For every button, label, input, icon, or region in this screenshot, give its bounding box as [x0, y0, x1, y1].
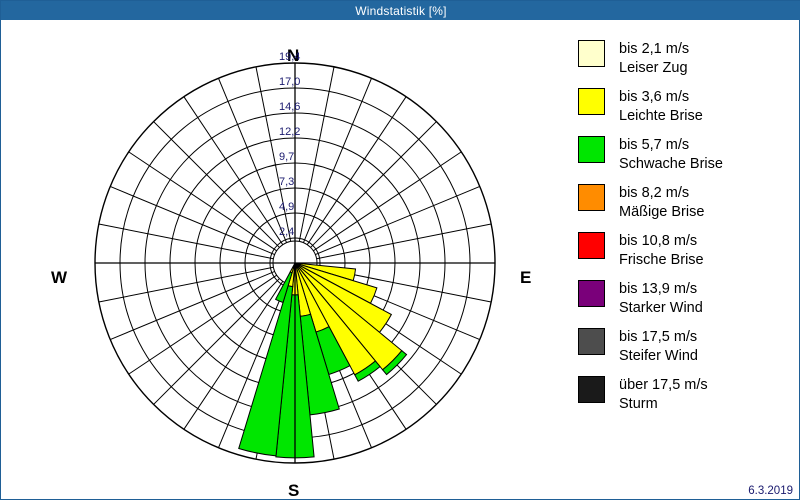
legend-speed: bis 8,2 m/s: [619, 184, 704, 203]
legend-color-swatch: [578, 136, 605, 163]
radial-tick-5: 12,2: [279, 126, 300, 138]
legend: bis 2,1 m/sLeiser Zugbis 3,6 m/sLeichte …: [566, 20, 799, 490]
legend-color-swatch: [578, 376, 605, 403]
legend-speed: bis 3,6 m/s: [619, 88, 703, 107]
compass-label-west: W: [51, 268, 67, 288]
legend-description: Sturm: [619, 395, 708, 414]
legend-description: Frische Brise: [619, 251, 704, 270]
radial-tick-1: 2,4: [279, 226, 294, 238]
radial-tick-6: 14,6: [279, 101, 300, 113]
legend-speed: bis 10,8 m/s: [619, 232, 704, 251]
legend-label: bis 5,7 m/sSchwache Brise: [619, 136, 723, 174]
legend-color-swatch: [578, 184, 605, 211]
compass-label-south: S: [288, 481, 299, 501]
legend-color-swatch: [578, 280, 605, 307]
legend-label: bis 10,8 m/sFrische Brise: [619, 232, 704, 270]
legend-speed: bis 13,9 m/s: [619, 280, 703, 299]
window-title-bar: Windstatistik [%]: [1, 1, 800, 20]
legend-item[interactable]: bis 3,6 m/sLeichte Brise: [578, 88, 703, 126]
radial-tick-8: 19,4: [279, 51, 300, 63]
legend-speed: bis 5,7 m/s: [619, 136, 723, 155]
legend-color-swatch: [578, 88, 605, 115]
legend-label: bis 13,9 m/sStarker Wind: [619, 280, 703, 318]
window-content: N S W E 2,44,97,39,712,214,617,019,4 bis…: [1, 20, 799, 499]
legend-label: bis 3,6 m/sLeichte Brise: [619, 88, 703, 126]
compass-label-east: E: [520, 268, 531, 288]
radial-tick-2: 4,9: [279, 201, 294, 213]
radial-tick-4: 9,7: [279, 151, 294, 163]
legend-label: bis 8,2 m/sMäßige Brise: [619, 184, 704, 222]
legend-item[interactable]: bis 2,1 m/sLeiser Zug: [578, 40, 689, 78]
legend-color-swatch: [578, 232, 605, 259]
radial-tick-7: 17,0: [279, 76, 300, 88]
legend-description: Starker Wind: [619, 299, 703, 318]
legend-label: bis 2,1 m/sLeiser Zug: [619, 40, 689, 78]
radial-tick-3: 7,3: [279, 176, 294, 188]
legend-item[interactable]: bis 17,5 m/sSteifer Wind: [578, 328, 698, 366]
wind-rose-svg: [1, 20, 561, 490]
legend-item[interactable]: über 17,5 m/sSturm: [578, 376, 708, 414]
legend-color-swatch: [578, 328, 605, 355]
legend-description: Mäßige Brise: [619, 203, 704, 222]
legend-description: Leiser Zug: [619, 59, 689, 78]
legend-label: über 17,5 m/sSturm: [619, 376, 708, 414]
wind-rose-plot: N S W E 2,44,97,39,712,214,617,019,4: [1, 20, 561, 490]
legend-speed: bis 2,1 m/s: [619, 40, 689, 59]
legend-item[interactable]: bis 5,7 m/sSchwache Brise: [578, 136, 723, 174]
legend-item[interactable]: bis 13,9 m/sStarker Wind: [578, 280, 703, 318]
window-title: Windstatistik [%]: [355, 4, 446, 18]
legend-description: Steifer Wind: [619, 347, 698, 366]
wind-statistics-window: Windstatistik [%] N S W E 2,44,97,39,712…: [0, 0, 800, 500]
legend-item[interactable]: bis 8,2 m/sMäßige Brise: [578, 184, 704, 222]
legend-description: Schwache Brise: [619, 155, 723, 174]
legend-description: Leichte Brise: [619, 107, 703, 126]
legend-speed: bis 17,5 m/s: [619, 328, 698, 347]
date-stamp: 6.3.2019: [748, 485, 793, 497]
legend-item[interactable]: bis 10,8 m/sFrische Brise: [578, 232, 704, 270]
legend-speed: über 17,5 m/s: [619, 376, 708, 395]
legend-label: bis 17,5 m/sSteifer Wind: [619, 328, 698, 366]
legend-color-swatch: [578, 40, 605, 67]
